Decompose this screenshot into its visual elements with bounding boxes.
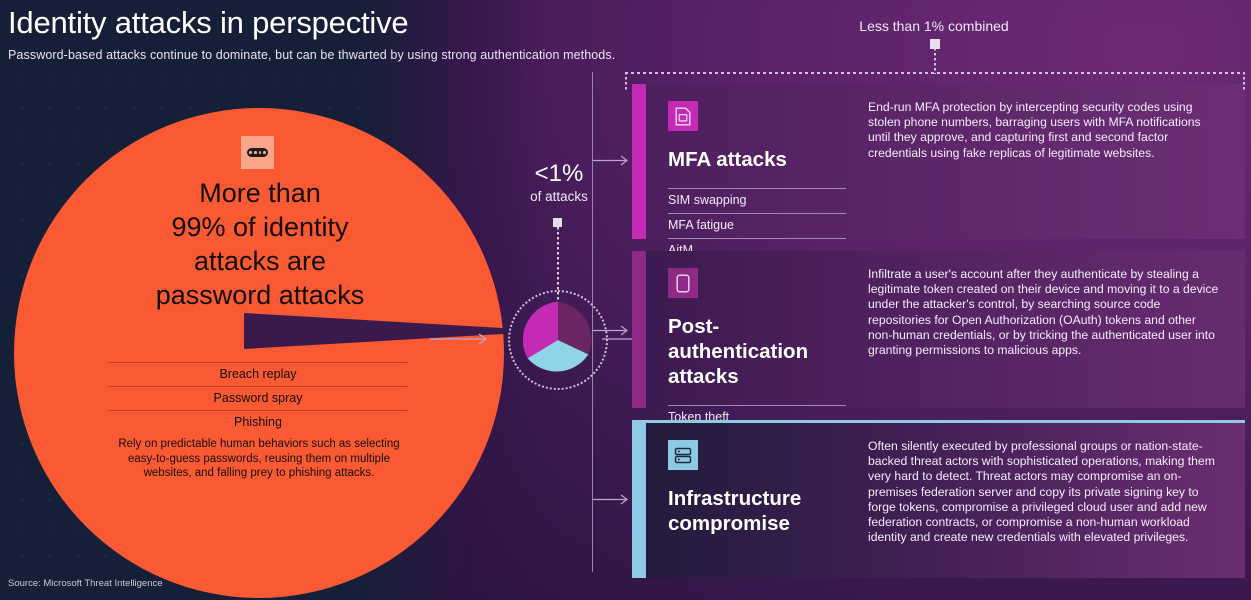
mini-pie-cluster: <1% of attacks xyxy=(494,160,634,380)
bracket-rail-square xyxy=(930,39,940,49)
list-item: MFA fatigue xyxy=(668,213,846,238)
mini-pie-label: <1% of attacks xyxy=(494,160,624,206)
list-item: Password spray xyxy=(108,386,408,410)
bracket-rail-label: Less than 1% combined xyxy=(824,18,1044,34)
page-title: Identity attacks in perspective xyxy=(8,2,615,44)
arrow-to-infrastructure-card xyxy=(593,494,631,505)
list-item: Breach replay xyxy=(108,362,408,386)
card-accent-bar xyxy=(632,84,646,239)
primary-stat-line-2: 99% of identity xyxy=(60,210,460,244)
password-attack-list: Breach replay Password spray Phishing xyxy=(108,362,408,434)
sim-card-icon xyxy=(668,101,698,131)
infographic-canvas: Identity attacks in perspective Password… xyxy=(0,0,1251,600)
card-mfa-attacks[interactable]: MFA attacks SIM swapping MFA fatigue Ait… xyxy=(632,84,1245,239)
list-item: SIM swapping xyxy=(668,188,846,213)
card-accent-bar xyxy=(632,251,646,408)
arrow-into-mini-pie xyxy=(430,333,490,345)
card-post-authentication-attacks[interactable]: Post-authentication attacks Token theft … xyxy=(632,251,1245,408)
card-title: Infrastructure compromise xyxy=(668,486,846,536)
card-title: Post-authentication attacks xyxy=(668,314,846,389)
mini-pie-chart xyxy=(518,300,598,380)
list-item: Phishing xyxy=(108,410,408,434)
mini-pie-percent: <1% xyxy=(494,160,624,188)
header: Identity attacks in perspective Password… xyxy=(8,2,615,63)
connector-line xyxy=(557,222,559,300)
primary-stat: More than 99% of identity attacks are pa… xyxy=(60,176,460,312)
card-description: Infiltrate a user's account after they a… xyxy=(868,267,1223,358)
bracket-rail-right-tick xyxy=(1243,72,1245,92)
server-rack-icon xyxy=(668,440,698,470)
card-accent-bar xyxy=(632,423,646,578)
mini-pie-sublabel: of attacks xyxy=(494,188,624,206)
card-description: Often silently executed by professional … xyxy=(868,439,1223,545)
bracket-rail-left-tick xyxy=(625,72,627,92)
mobile-device-icon xyxy=(668,268,698,298)
password-attack-note: Rely on predictable human behaviors such… xyxy=(105,437,413,481)
card-title: MFA attacks xyxy=(668,147,846,172)
card-description: End-run MFA protection by intercepting s… xyxy=(868,100,1223,161)
password-dots-icon xyxy=(241,136,274,169)
source-attribution: Source: Microsoft Threat Intelligence xyxy=(8,578,163,589)
page-subtitle: Password-based attacks continue to domin… xyxy=(8,47,615,63)
primary-stat-line-1: More than xyxy=(60,176,460,210)
card-infrastructure-compromise[interactable]: Infrastructure compromise Often silently… xyxy=(632,420,1245,578)
primary-stat-line-3: attacks are xyxy=(60,244,460,278)
primary-stat-line-4: password attacks xyxy=(60,278,460,312)
